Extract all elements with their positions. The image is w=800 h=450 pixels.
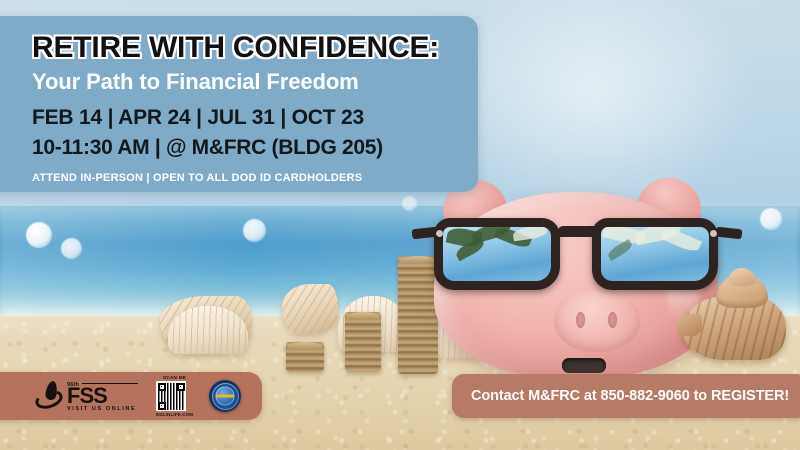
qr-code-icon[interactable] [156, 381, 186, 411]
contact-text: Contact M&FRC at 850-882-9060 to REGISTE… [471, 388, 789, 404]
bokeh-light [402, 196, 417, 211]
fss-name: FSS [67, 386, 138, 405]
coin-stack-medium [345, 312, 381, 372]
coin-stack-small [286, 342, 324, 372]
bokeh-light [760, 208, 782, 230]
flame-icon [34, 381, 64, 411]
sunglasses-temple-right [716, 227, 743, 240]
page-subtitle: Your Path to Financial Freedom [32, 69, 460, 95]
piggy-nostril [576, 312, 585, 328]
coin-top [345, 312, 381, 319]
event-time-location: 10-11:30 AM | @ M&FRC (BLDG 205) [32, 136, 460, 160]
fss-tagline: VISIT US ONLINE [67, 406, 138, 412]
bokeh-light [243, 219, 266, 242]
header-panel: RETIRE WITH CONFIDENCE: Your Path to Fin… [0, 16, 478, 192]
qr-block[interactable]: SCAN ME EGLINLIFE.COM [156, 375, 193, 417]
conch-lip [676, 314, 702, 336]
page-title: RETIRE WITH CONFIDENCE: [32, 32, 460, 64]
flyer-canvas: RETIRE WITH CONFIDENCE: Your Path to Fin… [0, 0, 800, 450]
audience-note: ATTEND IN-PERSON | OPEN TO ALL DOD ID CA… [32, 172, 460, 184]
piggy-nostril [608, 312, 617, 328]
fss-prefix: 96th [67, 382, 138, 388]
logo-bar: 96th FSS VISIT US ONLINE SCAN ME EGLINLI… [0, 372, 262, 420]
piggy-coin-slot [562, 358, 606, 373]
piggy-snout [554, 290, 640, 352]
event-dates: FEB 14 | APR 24 | JUL 31 | OCT 23 [32, 106, 460, 130]
seashell-large-conch [676, 272, 790, 360]
coin-top [286, 342, 324, 349]
fss-logo[interactable]: 96th FSS VISIT US ONLINE [34, 380, 138, 411]
seashell-fan [168, 306, 248, 354]
sunglasses-lens-left [434, 218, 560, 290]
sunglasses-hinge [436, 230, 443, 237]
seashell-spiral [282, 284, 338, 334]
sunglasses-hinge [710, 230, 717, 237]
air-force-services-seal-icon [209, 380, 241, 412]
qr-url-text: EGLINLIFE.COM [156, 412, 193, 417]
bokeh-light [26, 222, 52, 248]
bokeh-light [61, 238, 82, 259]
sunglasses-bridge [558, 226, 600, 237]
fss-wordmark: 96th FSS VISIT US ONLINE [67, 380, 138, 411]
qr-scan-label: SCAN ME [156, 375, 193, 380]
contact-bar[interactable]: Contact M&FRC at 850-882-9060 to REGISTE… [452, 374, 800, 418]
header-content: RETIRE WITH CONFIDENCE: Your Path to Fin… [32, 32, 460, 184]
